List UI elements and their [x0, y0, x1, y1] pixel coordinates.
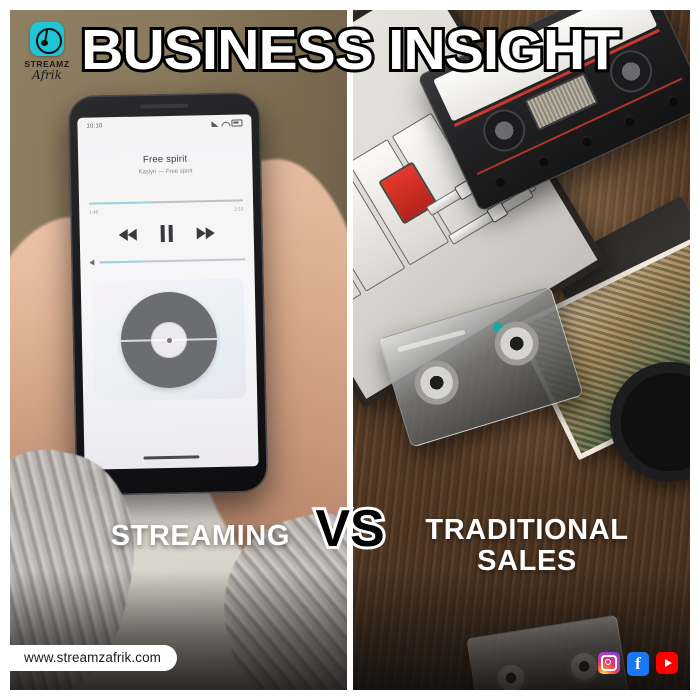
track-title: Free spirit [90, 152, 240, 166]
progress-bar[interactable] [89, 199, 243, 204]
time-elapsed: 1:48 [89, 209, 98, 214]
left-bottom-shade [10, 570, 347, 690]
home-indicator [143, 455, 199, 459]
label-streaming: STREAMING [0, 521, 290, 552]
speaker-icon [89, 260, 94, 266]
brand-script: Afrik [18, 68, 76, 82]
clear-reel-left [409, 355, 464, 410]
brand-logo[interactable]: STREAMZ Afrik [18, 22, 76, 82]
website-url[interactable]: www.streamzafrik.com [10, 645, 177, 671]
facebook-f-glyph: f [635, 655, 641, 672]
streamz-music-note-icon [30, 22, 64, 56]
battery-icon [231, 119, 242, 126]
phone-screen: 10:10 Free spirit Kaslyn — Free spirit [77, 114, 258, 470]
left-photo-streaming: 10:10 Free spirit Kaslyn — Free spirit [10, 10, 347, 690]
label-vs: VS [305, 503, 395, 555]
page-title: BUSINESS INSIGHT [0, 22, 700, 79]
volume-slider[interactable] [99, 258, 245, 263]
vinyl-record-icon [120, 291, 218, 389]
pause-icon[interactable] [161, 225, 173, 242]
now-playing-info: Free spirit Kaslyn — Free spirit [78, 126, 253, 177]
label-traditional-sales: TRADITIONAL SALES [408, 515, 646, 578]
facebook-icon[interactable]: f [627, 652, 649, 676]
comparison-row: STREAMING VS TRADITIONAL SALES [0, 503, 700, 583]
smartphone: 10:10 Free spirit Kaslyn — Free spirit [68, 92, 268, 496]
fast-forward-icon[interactable] [197, 227, 215, 239]
track-artist: Kaslyn — Free spirit [90, 167, 240, 176]
wifi-icon [221, 120, 228, 126]
youtube-icon[interactable] [656, 652, 678, 674]
album-art [92, 278, 246, 401]
rewind-icon[interactable] [119, 228, 137, 240]
social-icons: f [598, 652, 678, 676]
playback-controls [80, 223, 254, 244]
right-photo-traditional [353, 10, 690, 690]
progress-fill [89, 201, 154, 204]
clear-cassette-label [397, 329, 466, 352]
status-time: 10:10 [86, 123, 102, 129]
progress-times: 1:48 2:10 [89, 206, 243, 214]
status-icons [211, 119, 242, 127]
panel-divider [347, 10, 353, 690]
signal-icon [211, 120, 218, 126]
instagram-icon[interactable] [598, 652, 620, 674]
time-remaining: 2:10 [234, 206, 243, 211]
phone-earpiece [140, 104, 188, 109]
poster-canvas: 10:10 Free spirit Kaslyn — Free spirit [0, 0, 700, 700]
volume-row[interactable] [89, 256, 245, 265]
